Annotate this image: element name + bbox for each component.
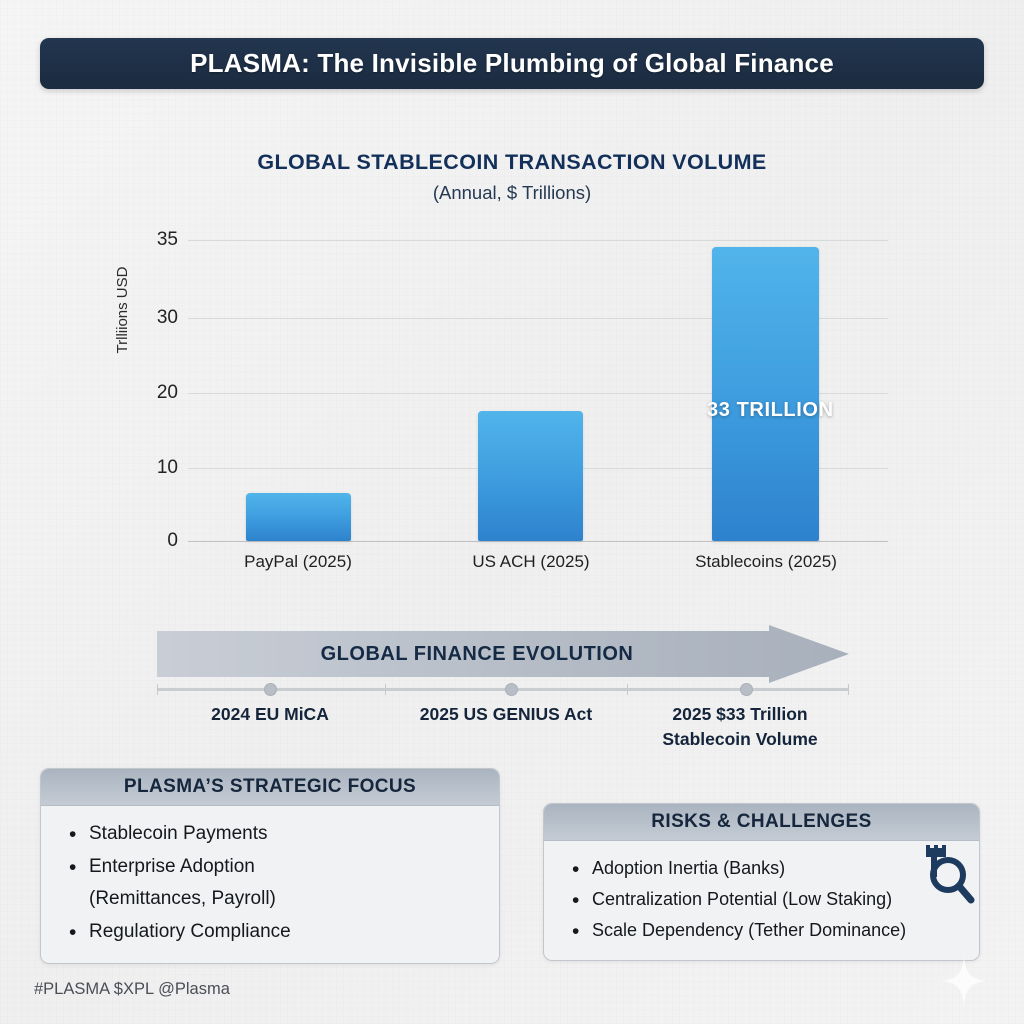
sparkle-icon [940,955,988,1007]
panel-risks-challenges: RISKS & CHALLENGES Adoption Inertia (Ban… [543,803,980,961]
gridline-35 [188,240,888,241]
bar-paypal[interactable] [246,493,351,541]
list-item: Adoption Inertia (Banks) [570,853,959,884]
timeline-label-mica: 2024 EU MiCA [170,702,370,727]
y-tick-label-20: 20 [130,382,178,404]
timeline-arrow-label: GLOBAL FINANCE EVOLUTION [157,625,797,683]
timeline-tick-end [848,684,849,695]
timeline-tick-1 [385,684,386,695]
timeline-label-genius: 2025 US GENIUS Act [406,702,606,727]
list-item: Enterprise Adoption [67,851,479,884]
bar-us-ach[interactable] [478,411,583,541]
strategic-focus-list: Stablecoin Payments Enterprise Adoption … [67,818,479,949]
timeline-label-volume-line2: Stablecoin Volume [662,729,817,749]
timeline-label-volume: 2025 $33 Trillion Stablecoin Volume [640,702,840,751]
list-item: Regulatiory Compliance [67,916,479,949]
panel-strategic-focus: PLASMA’S STRATEGIC FOCUS Stablecoin Paym… [40,768,500,964]
bar-value-label-stablecoins: 33 TRILLION [707,399,834,422]
x-tick-label-stablecoins: Stablecoins (2025) [666,552,866,572]
timeline-dot-genius[interactable] [505,683,518,696]
footer-hashtags: #PLASMA $XPL @Plasma [34,980,230,999]
timeline-dot-volume[interactable] [740,683,753,696]
panel-strategic-focus-body: Stablecoin Payments Enterprise Adoption … [41,806,499,963]
y-tick-label-0: 0 [130,530,178,552]
bar-stablecoins[interactable] [712,247,819,541]
y-axis-title: Trlliions USD [114,245,131,375]
list-item: Stablecoin Payments [67,818,479,851]
x-tick-label-us-ach: US ACH (2025) [431,552,631,572]
list-item: Scale Dependency (Tether Dominance) [570,915,959,946]
panel-risks-heading: RISKS & CHALLENGES [544,804,979,841]
y-tick-label-35: 35 [130,229,178,251]
list-item-continuation: (Remittances, Payroll) [67,883,479,916]
x-tick-label-paypal: PayPal (2025) [198,552,398,572]
timeline-label-volume-line1: 2025 $33 Trillion [672,704,807,724]
y-tick-label-10: 10 [130,457,178,479]
magnifier-icon [918,845,976,907]
timeline-dot-mica[interactable] [264,683,277,696]
panel-risks-body: Adoption Inertia (Banks) Centralization … [544,841,979,960]
panel-strategic-focus-heading: PLASMA’S STRATEGIC FOCUS [41,769,499,806]
gridline-baseline-0 [188,541,888,542]
y-tick-label-30: 30 [130,307,178,329]
timeline-tick-2 [627,684,628,695]
timeline-tick-start [157,684,158,695]
risks-list: Adoption Inertia (Banks) Centralization … [570,853,959,946]
list-item: Centralization Potential (Low Staking) [570,884,959,915]
chart-plot-area: Trlliions USD 35 30 20 10 0 33 TRILLION … [0,0,1024,440]
